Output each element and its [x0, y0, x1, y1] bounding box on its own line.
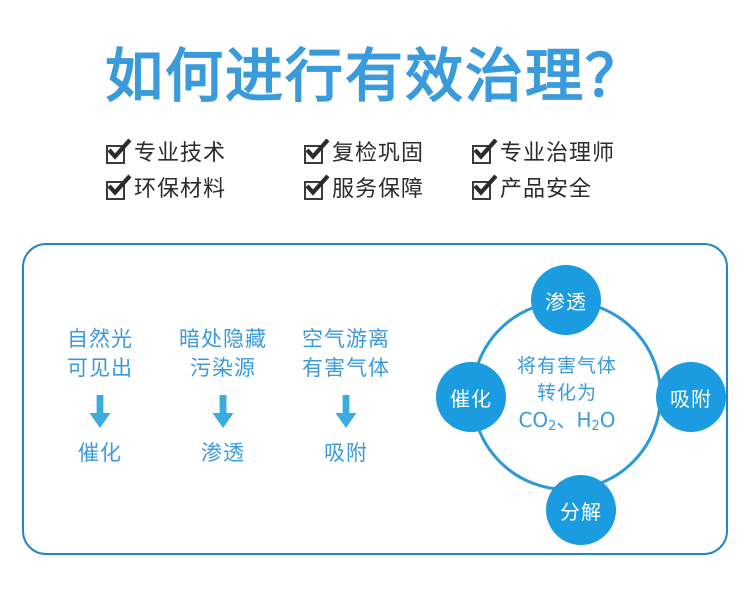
- flow-result-label: 吸附: [324, 440, 368, 466]
- feature-label: 复检巩固: [332, 141, 424, 167]
- formula-co2-symbol: CO: [518, 408, 548, 432]
- feature-item-recheck: 复检巩固: [304, 136, 472, 172]
- flow-result-label: 催化: [78, 440, 122, 466]
- cycle-center-formula: CO2、H2O: [492, 407, 642, 437]
- formula-separator: 、: [556, 408, 576, 432]
- flow-source-line2: 可见出: [67, 354, 133, 383]
- flow-source-line2: 有害气体: [302, 354, 390, 383]
- formula-h2o-subscript: 2: [592, 419, 600, 434]
- checkbox-checked-icon: [472, 145, 491, 164]
- feature-row: 环保材料 服务保障 产品安全: [106, 172, 644, 208]
- feature-label: 环保材料: [134, 177, 226, 203]
- formula-h2o-oxygen: O: [600, 408, 616, 432]
- cycle-node-permeation: 渗透: [531, 265, 601, 335]
- feature-item-product-safety: 产品安全: [472, 172, 644, 208]
- checkbox-checked-icon: [106, 181, 125, 200]
- feature-item-eco-material: 环保材料: [106, 172, 304, 208]
- cycle-center-line2: 转化为: [492, 380, 642, 407]
- feature-row: 专业技术 复检巩固 专业治理师: [106, 136, 644, 172]
- flow-column-catalysis: 自然光 可见出 催化: [44, 325, 156, 466]
- flow-source-text: 自然光 可见出: [67, 325, 133, 383]
- feature-item-professional-tech: 专业技术: [106, 136, 304, 172]
- flow-result-label: 渗透: [201, 440, 245, 466]
- arrow-down-icon: [89, 395, 111, 429]
- flow-source-line1: 空气游离: [302, 325, 390, 354]
- checkbox-checked-icon: [304, 145, 323, 164]
- checkbox-checked-icon: [472, 181, 491, 200]
- flow-source-line2: 污染源: [179, 354, 267, 383]
- feature-item-professional-technician: 专业治理师: [472, 136, 644, 172]
- feature-list: 专业技术 复检巩固 专业治理师: [0, 136, 750, 208]
- checkbox-checked-icon: [106, 145, 125, 164]
- page-title: 如何进行有效治理？: [0, 42, 750, 110]
- diagram-panel: 自然光 可见出 催化 暗处隐藏 污染源 渗透: [22, 243, 728, 555]
- flow-columns: 自然光 可见出 催化 暗处隐藏 污染源 渗透: [44, 325, 402, 466]
- checkbox-checked-icon: [304, 181, 323, 200]
- feature-label: 产品安全: [500, 177, 592, 203]
- feature-label: 专业治理师: [500, 141, 615, 167]
- flow-column-permeation: 暗处隐藏 污染源 渗透: [167, 325, 279, 466]
- flow-source-line1: 自然光: [67, 325, 133, 354]
- formula-co2-subscript: 2: [548, 419, 556, 434]
- arrow-down-icon: [212, 395, 234, 429]
- formula-h2o-symbol: H: [576, 408, 591, 432]
- cycle-center-text: 将有害气体 转化为 CO2、H2O: [492, 353, 642, 437]
- flow-column-adsorption: 空气游离 有害气体 吸附: [290, 325, 402, 466]
- flow-source-line1: 暗处隐藏: [179, 325, 267, 354]
- arrow-down-icon: [335, 395, 357, 429]
- feature-item-service-guarantee: 服务保障: [304, 172, 472, 208]
- feature-label: 专业技术: [134, 141, 226, 167]
- feature-label: 服务保障: [332, 177, 424, 203]
- cycle-node-adsorption: 吸附: [656, 362, 726, 432]
- flow-source-text: 空气游离 有害气体: [302, 325, 390, 383]
- cycle-node-decomposition: 分解: [546, 475, 616, 545]
- cycle-center-line1: 将有害气体: [492, 353, 642, 380]
- cycle-diagram: 渗透 催化 吸附 分解 将有害气体 转化为 CO2、H2O: [412, 257, 718, 547]
- flow-source-text: 暗处隐藏 污染源: [179, 325, 267, 383]
